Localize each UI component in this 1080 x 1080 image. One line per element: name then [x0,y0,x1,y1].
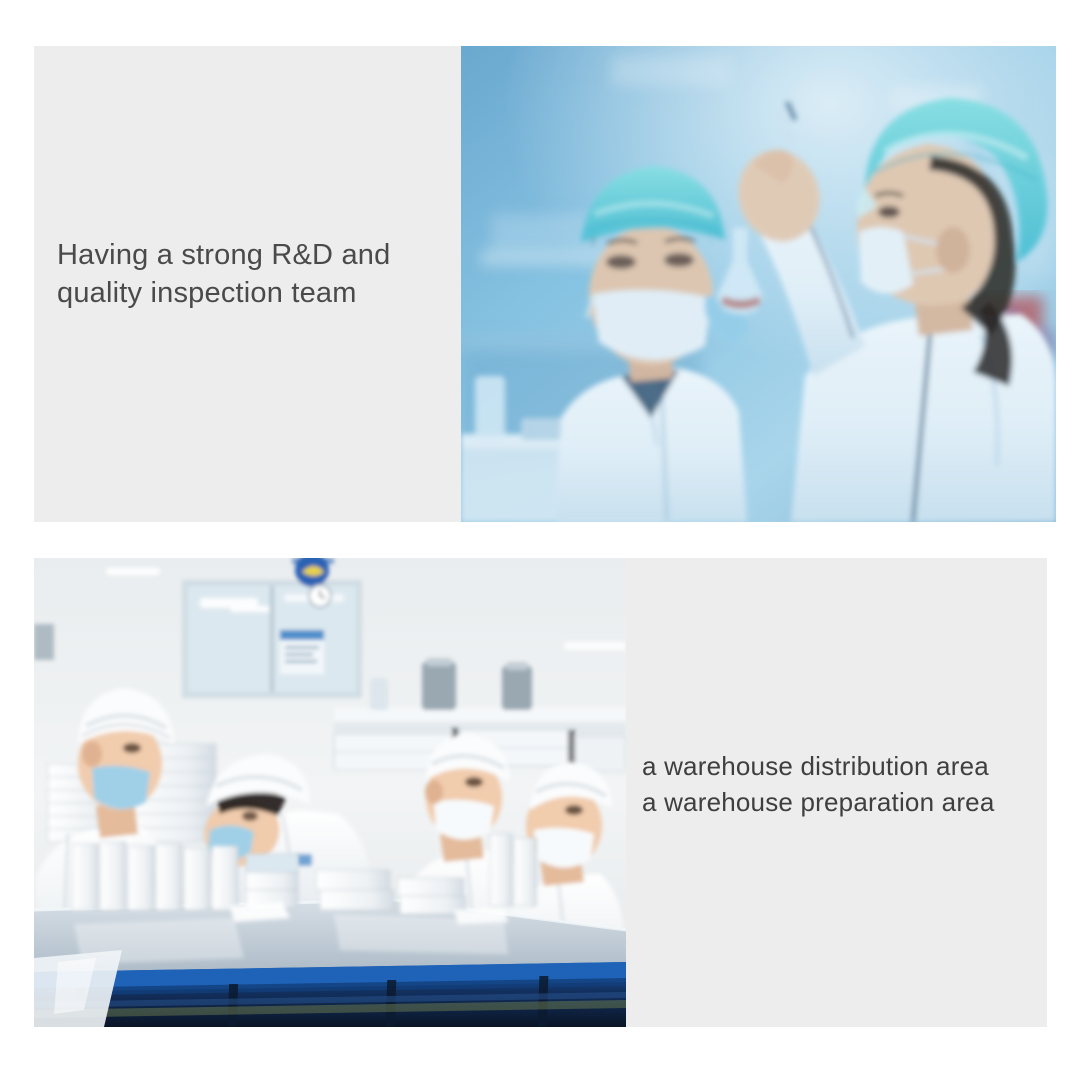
warehouse-packing-photo [34,558,626,1027]
warehouse-caption-text: a warehouse distribution area a warehous… [642,748,1042,820]
poster-root: Having a strong R&D and quality inspecti… [0,0,1080,1080]
rnd-caption-text: Having a strong R&D and quality inspecti… [57,236,457,312]
rnd-section-panel: Having a strong R&D and quality inspecti… [34,46,1056,522]
lab-scene-illustration [461,46,1056,522]
warehouse-section-panel: a warehouse distribution area a warehous… [34,558,1047,1027]
lab-technicians-photo [461,46,1056,522]
warehouse-scene-illustration [34,558,626,1027]
